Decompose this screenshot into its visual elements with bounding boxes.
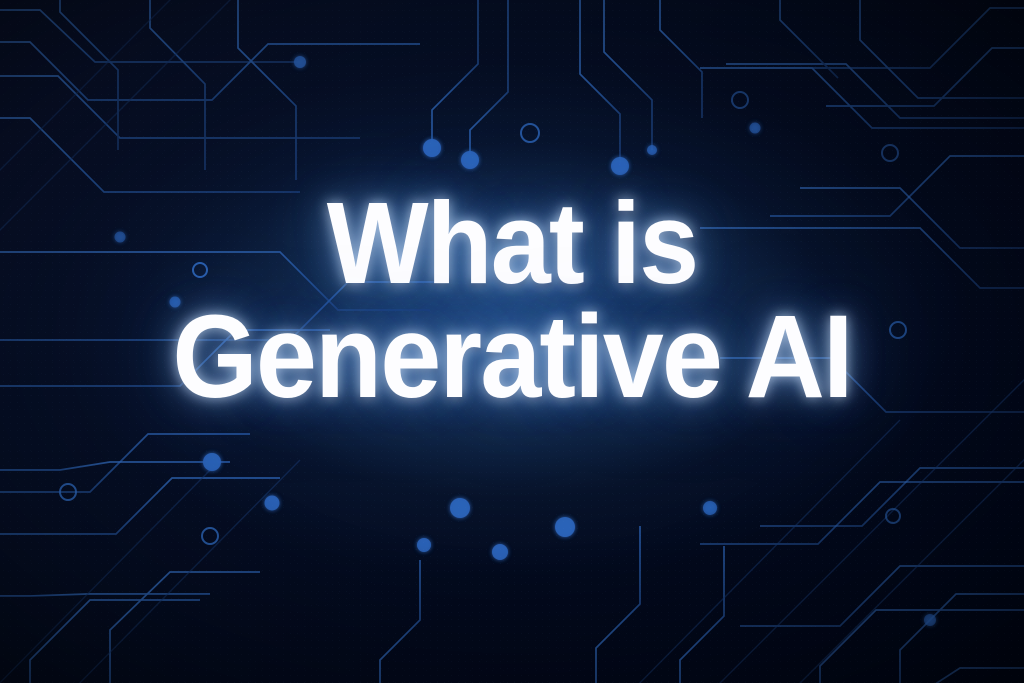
poster-canvas: What is Generative AI — [0, 0, 1024, 683]
hero-title-line-2: Generative AI — [36, 300, 988, 414]
hero-title: What is Generative AI — [0, 186, 1024, 414]
hero-title-line-1: What is — [36, 186, 988, 300]
